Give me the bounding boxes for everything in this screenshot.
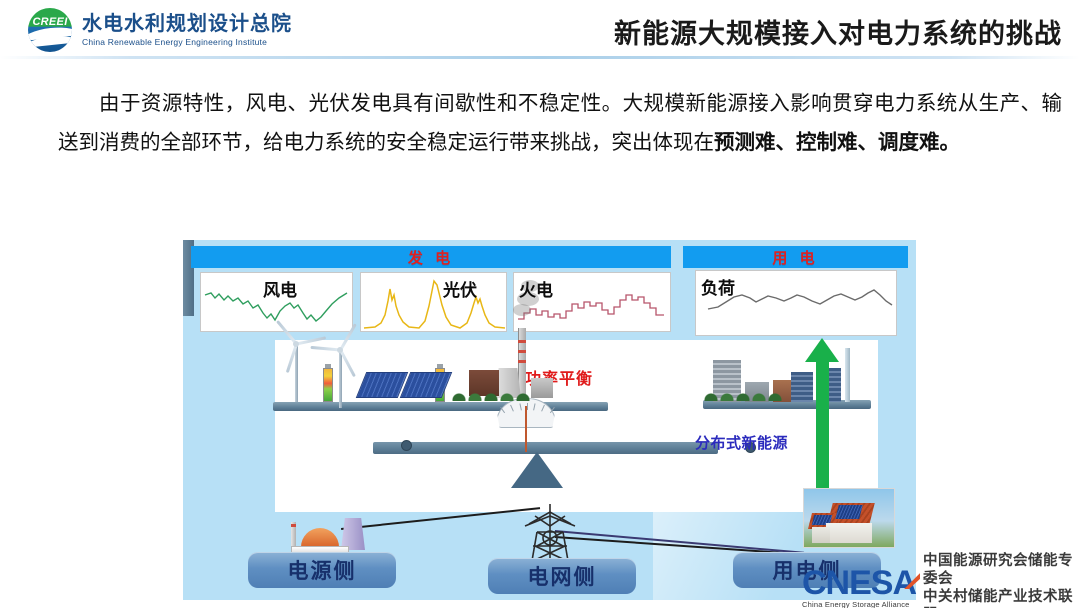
balance-pivot-left [401, 440, 412, 451]
logo-mark-text: CREEI [28, 16, 72, 28]
battery-meter-cap-1 [325, 364, 331, 368]
body-text-bold: 预测难、控制难、调度难。 [714, 131, 960, 154]
balance-fulcrum [511, 452, 563, 488]
chart-label-pv: 光伏 [443, 276, 477, 301]
label-pill-grid-side: 电网侧 [488, 558, 636, 594]
organization-logo: CREEI 水电水利规划设计总院 China Renewable Energy … [28, 8, 292, 52]
source-plant-chimney-band [291, 524, 296, 527]
rooftop-solar-house-photo [803, 488, 895, 548]
panel-header-generation: 发 电 [191, 246, 671, 268]
cnesa-watermark: CNESA China Energy Storage Alliance 中国能源… [802, 552, 1080, 608]
house-wall-main [826, 523, 872, 543]
panel-header-consumption: 用 电 [683, 246, 908, 268]
balance-post-right [183, 276, 194, 316]
cnesa-logo-icon: CNESA China Energy Storage Alliance [802, 567, 916, 608]
wind-turbine-icon-1 [279, 326, 313, 404]
chart-pv-curve [361, 273, 507, 332]
chart-label-wind: 风电 [263, 276, 297, 301]
cnesa-cn-line-1: 中国能源研究会储能专委会 [923, 552, 1080, 588]
organization-name-en: China Renewable Energy Engineering Insti… [82, 37, 292, 47]
label-distributed-energy: 分布式新能源 [695, 432, 788, 453]
tree-row-right-tray [703, 392, 871, 401]
chimney-band-2 [518, 350, 526, 353]
battery-meter-cap-2 [437, 364, 443, 368]
battery-meter-icon-1 [323, 368, 333, 402]
page-title: 新能源大规模接入对电力系统的挑战 [614, 12, 1062, 51]
cnesa-brand-text: CNESA [802, 567, 916, 599]
creei-logo-icon: CREEI [28, 8, 72, 52]
slide-header: CREEI 水电水利规划设计总院 China Renewable Energy … [0, 0, 1080, 56]
house-wall-side [812, 527, 830, 543]
chimney-band-3 [518, 360, 526, 363]
chart-label-thermal: 火电 [519, 276, 553, 301]
power-system-diagram: 发 电 用 电 风电 光伏 火电 负荷 [183, 240, 916, 600]
organization-name-cn: 水电水利规划设计总院 [82, 13, 292, 35]
rooftop-pv-array-main [835, 505, 862, 519]
cnesa-cn-lines: 中国能源研究会储能专委会 中关村储能产业技术联盟 [923, 552, 1080, 608]
logo-text-group: 水电水利规划设计总院 China Renewable Energy Engine… [82, 13, 292, 47]
chimney-band-1 [518, 340, 526, 343]
cnesa-cn-line-2: 中关村储能产业技术联盟 [923, 588, 1080, 608]
diagram-stage-notch [275, 470, 412, 512]
cnesa-brand-en: China Energy Storage Alliance [802, 600, 916, 608]
body-paragraph: 由于资源特性，风电、光伏发电具有间歇性和不稳定性。大规模新能源接入影响贯穿电力系… [58, 84, 1062, 163]
slide-root: CREEI 水电水利规划设计总院 China Renewable Energy … [0, 0, 1080, 608]
tree-row-left-tray [451, 392, 603, 401]
header-divider [0, 56, 1080, 59]
gauge-needle [525, 406, 527, 452]
chart-label-load: 负荷 [701, 274, 735, 299]
label-pill-source-side: 电源侧 [248, 552, 396, 588]
chart-pv-power [360, 272, 507, 332]
